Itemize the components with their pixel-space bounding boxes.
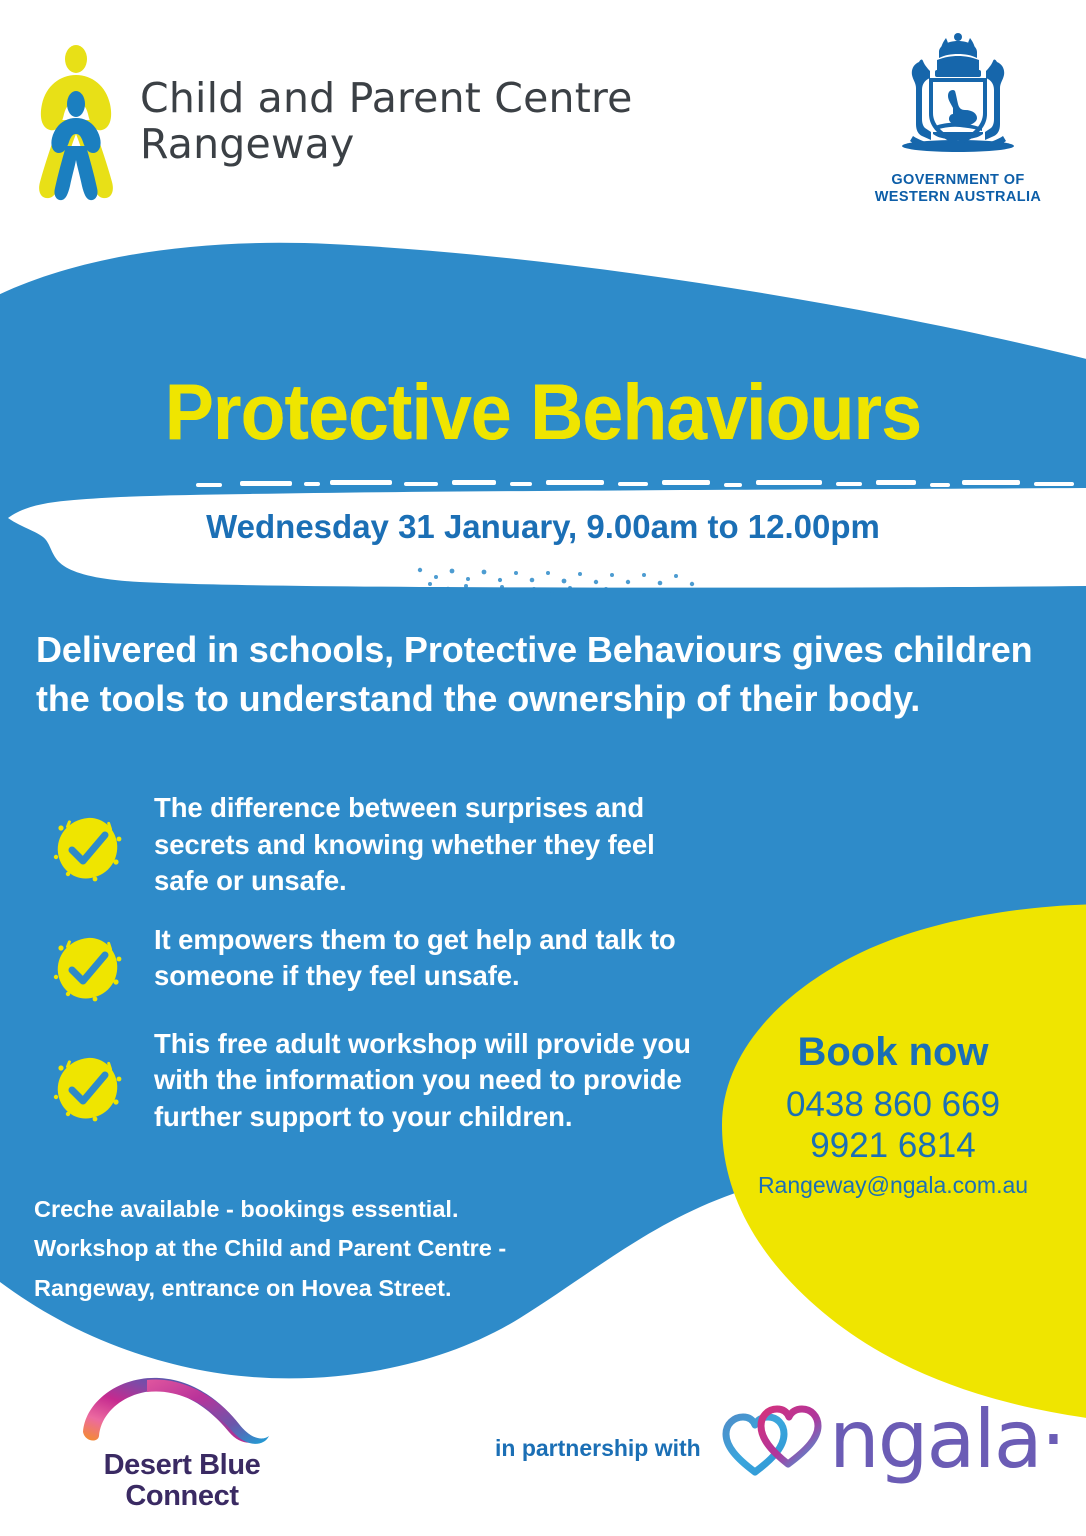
wa-state-coat-of-arms-icon bbox=[883, 28, 1033, 170]
list-item-text: The difference between surprises and sec… bbox=[124, 790, 692, 900]
workshop-details-line2: Workshop at the Child and Parent Centre … bbox=[34, 1229, 654, 1268]
workshop-details: Creche available - bookings essential. W… bbox=[34, 1190, 654, 1308]
ngala-logo: ngala· bbox=[722, 1402, 1064, 1478]
dbc-line1: Desert Blue bbox=[62, 1450, 302, 1481]
dbc-line2: Connect bbox=[62, 1481, 302, 1512]
book-now-heading: Book now bbox=[700, 1030, 1086, 1074]
cpc-logo-line2: Rangeway bbox=[140, 122, 633, 168]
list-item: It empowers them to get help and talk to… bbox=[52, 922, 692, 1004]
poster-title: Protective Behaviours bbox=[38, 372, 1048, 451]
government-of-wa-logo: GOVERNMENT OF WESTERN AUSTRALIA bbox=[872, 28, 1044, 206]
poster-header: Child and Parent Centre Rangeway bbox=[0, 0, 1086, 230]
intro-paragraph: Delivered in schools, Protective Behavio… bbox=[36, 626, 1048, 724]
date-banner: Wednesday 31 January, 9.00am to 12.00pm bbox=[0, 474, 1086, 600]
child-and-parent-centre-logo: Child and Parent Centre Rangeway bbox=[30, 42, 633, 202]
wa-logo-line2: WESTERN AUSTRALIA bbox=[872, 189, 1044, 206]
date-banner-text: Wednesday 31 January, 9.00am to 12.00pm bbox=[0, 508, 1086, 546]
ngala-wordmark: ngala· bbox=[829, 1407, 1064, 1473]
list-item-text: It empowers them to get help and talk to… bbox=[124, 922, 692, 995]
desert-blue-connect-logo: Desert Blue Connect bbox=[62, 1370, 302, 1511]
list-item: The difference between surprises and sec… bbox=[52, 790, 692, 900]
cpc-logo-line1: Child and Parent Centre bbox=[140, 76, 633, 122]
list-item: This free adult workshop will provide yo… bbox=[52, 1026, 692, 1136]
check-circle-icon bbox=[52, 812, 124, 884]
benefits-list: The difference between surprises and sec… bbox=[52, 790, 692, 1135]
partnership-label: in partnership with bbox=[495, 1435, 701, 1462]
wa-logo-line1: GOVERNMENT OF bbox=[872, 172, 1044, 189]
workshop-details-line3: Rangeway, entrance on Hovea Street. bbox=[34, 1269, 654, 1308]
poster-canvas: Child and Parent Centre Rangeway bbox=[0, 0, 1086, 1536]
book-now-email[interactable]: Rangeway@ngala.com.au bbox=[700, 1171, 1086, 1201]
book-now-phone-landline[interactable]: 9921 6814 bbox=[700, 1125, 1086, 1166]
interlocking-hearts-icon bbox=[722, 1402, 827, 1478]
workshop-details-line1: Creche available - bookings essential. bbox=[34, 1190, 654, 1229]
list-item-text: This free adult workshop will provide yo… bbox=[124, 1026, 692, 1136]
child-and-parent-figures-icon bbox=[30, 42, 126, 202]
check-circle-icon bbox=[52, 1052, 124, 1124]
book-now-phone-mobile[interactable]: 0438 860 669 bbox=[700, 1084, 1086, 1125]
check-circle-icon bbox=[52, 932, 124, 1004]
book-now-panel: Book now 0438 860 669 9921 6814 Rangeway… bbox=[700, 1030, 1086, 1200]
gradient-swoosh-icon bbox=[77, 1370, 287, 1448]
